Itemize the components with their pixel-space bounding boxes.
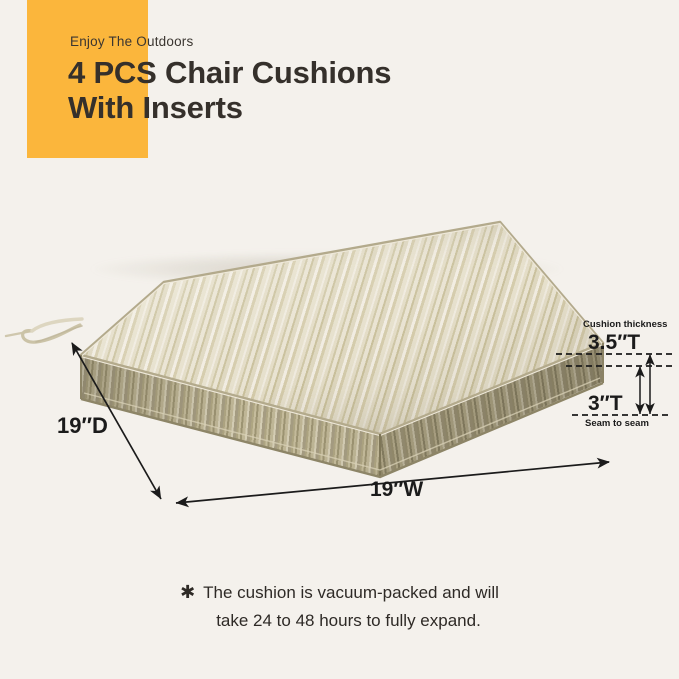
asterisk-icon: ✱ bbox=[180, 582, 203, 602]
thickness-caption: Cushion thickness bbox=[583, 319, 667, 330]
thickness-dimension-label: 3.5″T bbox=[588, 331, 640, 355]
infographic-canvas: Enjoy The Outdoors 4 PCS Chair Cushions … bbox=[0, 0, 679, 679]
seam-caption: Seam to seam bbox=[585, 418, 649, 429]
width-dimension-label: 19″W bbox=[370, 478, 423, 502]
product-image bbox=[0, 0, 679, 560]
footnote-text-1: The cushion is vacuum-packed and will bbox=[203, 583, 499, 602]
depth-dimension-label: 19″D bbox=[57, 413, 108, 439]
footnote-line-1: ✱The cushion is vacuum-packed and will bbox=[0, 578, 679, 607]
footnote: ✱The cushion is vacuum-packed and will t… bbox=[0, 578, 679, 635]
seam-dimension-label: 3″T bbox=[588, 392, 623, 416]
footnote-line-2: take 24 to 48 hours to fully expand. bbox=[0, 607, 679, 635]
cushion-piping bbox=[0, 0, 679, 560]
